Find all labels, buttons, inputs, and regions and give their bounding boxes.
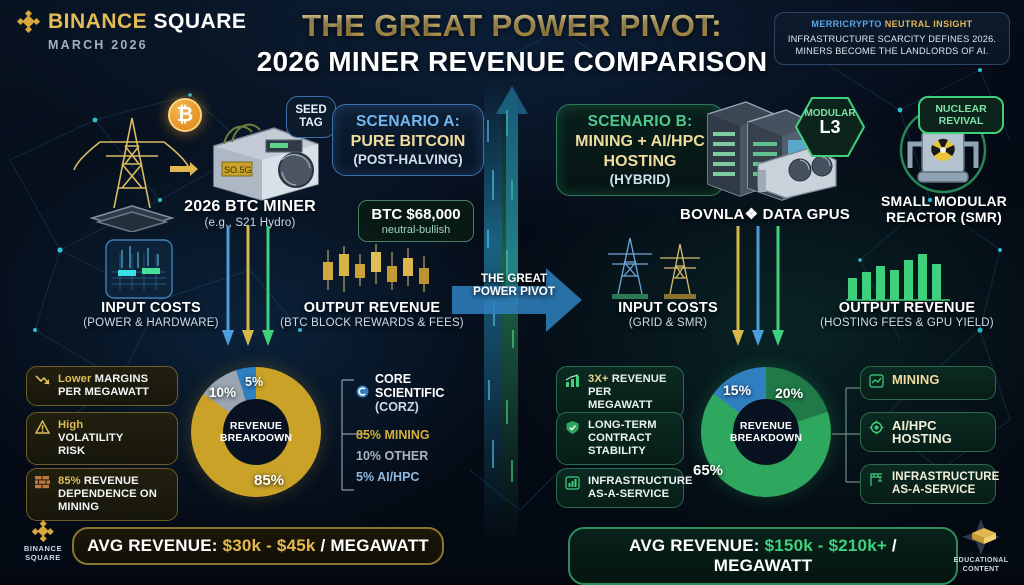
input-costs-grid-icon bbox=[104, 238, 174, 300]
left-chip-1-text: Lower MARGINS PER MEGAWATT bbox=[58, 373, 149, 399]
right-legend-chip-1-text: MINING bbox=[892, 373, 940, 386]
scenario-b-main-2: HOSTING bbox=[571, 153, 709, 171]
right-chip-2-line2: CONTRACT bbox=[588, 432, 652, 444]
right-legend-chip-2: AI/HPC HOSTING bbox=[860, 412, 996, 452]
right-chip-3-text: INFRASTRUCTURE AS-A-SERVICE bbox=[588, 475, 693, 501]
left-chip-2-line2: VOLATILITY bbox=[58, 432, 123, 444]
bar-chart-icon bbox=[565, 476, 581, 495]
left-legend-title-text: CORE SCIENTIFIC (CORZ) bbox=[375, 372, 476, 414]
left-legend-ticker: (CORZ) bbox=[375, 400, 419, 414]
left-legend-title-1: CORE bbox=[375, 372, 411, 386]
right-chip-2: LONG-TERM CONTRACT STABILITY bbox=[556, 412, 684, 465]
crane-icon bbox=[869, 472, 885, 492]
right-donut-center-text: REVENUE BREAKDOWN bbox=[730, 420, 802, 444]
right-donut-value-15: 15% bbox=[723, 382, 751, 398]
insight-source: MERRICRYPTO bbox=[811, 19, 881, 29]
right-legend-chip-3-text: INFRASTRUCTURE AS-A-SERVICE bbox=[892, 471, 999, 497]
left-avg-value: $30k - $45k bbox=[223, 536, 316, 555]
left-legend-row-3: 5% AI/HPC bbox=[356, 470, 476, 484]
insight-type: NEUTRAL INSIGHT bbox=[885, 19, 973, 29]
left-legend-row-1: 85% MINING bbox=[356, 428, 476, 442]
modular-hex-line2: L3 bbox=[794, 121, 866, 133]
educational-line2: CONTENT bbox=[946, 566, 1016, 575]
seed-tag-line2: TAG bbox=[291, 117, 331, 130]
right-chip-3-line2: AS-A-SERVICE bbox=[588, 488, 669, 500]
candlestick-chart-icon bbox=[318, 240, 446, 300]
right-chip-2-line3: STABILITY bbox=[588, 445, 646, 457]
chart-up-icon bbox=[565, 374, 581, 393]
left-legend-title-2: SCIENTIFIC bbox=[375, 386, 444, 400]
right-avg-prefix: AVG REVENUE: bbox=[629, 536, 764, 555]
left-legend: CORE SCIENTIFIC (CORZ) 85% MINING 10% OT… bbox=[356, 372, 476, 484]
right-legend-chip-2-text: AI/HPC HOSTING bbox=[892, 419, 952, 445]
warning-triangle-icon bbox=[35, 420, 51, 439]
left-avg-revenue-bar: AVG REVENUE: $30k - $45k / MEGAWATT bbox=[72, 527, 444, 565]
modular-hex-label: MODULAR L3 bbox=[794, 108, 866, 133]
btc-price-badge: BTC $68,000 neutral-bullish bbox=[358, 200, 474, 242]
insight-body-line1: INFRASTRUCTURE SCARCITY DEFINES 2026. bbox=[783, 33, 1001, 45]
left-chip-3-text: 85% REVENUE DEPENDENCE ON MINING bbox=[58, 475, 157, 514]
nuclear-revival-line2: REVIVAL bbox=[918, 115, 1004, 127]
right-legend-chip-3-line2: AS-A-SERVICE bbox=[892, 484, 975, 496]
nuclear-revival-label: NUCLEAR REVIVAL bbox=[918, 103, 1004, 127]
pivot-line2: POWER PIVOT bbox=[462, 285, 566, 298]
left-chip-1-rest: MARGINS bbox=[95, 373, 149, 385]
mining-chart-icon bbox=[869, 374, 885, 393]
right-chip-1-highlight: 3X+ bbox=[588, 373, 612, 385]
left-chip-3-line2: DEPENDENCE ON bbox=[58, 488, 157, 500]
scenario-a-sub: (POST-HALVING) bbox=[347, 152, 469, 167]
nuclear-revival-line1: NUCLEAR bbox=[918, 103, 1004, 115]
educational-line1: EDUCATIONAL bbox=[946, 557, 1016, 566]
right-legend-chip-3: INFRASTRUCTURE AS-A-SERVICE bbox=[860, 464, 996, 504]
right-chip-3: INFRASTRUCTURE AS-A-SERVICE bbox=[556, 468, 684, 508]
bitcoin-coin-icon: ₿ bbox=[168, 98, 202, 132]
svg-text:SO.5G: SO.5G bbox=[224, 165, 252, 175]
miner-label: 2026 BTC MINER (e.g., S21 Hydro) bbox=[150, 198, 350, 229]
graduation-cap-icon bbox=[960, 519, 1002, 555]
footer-binance-diamond-icon bbox=[33, 521, 53, 541]
right-legend-chip-2-line2: HOSTING bbox=[892, 431, 952, 446]
right-donut-value-20: 20% bbox=[775, 385, 803, 401]
educational-content-badge: EDUCATIONAL CONTENT bbox=[946, 519, 1016, 574]
seed-tag-badge: SEED TAG bbox=[286, 96, 336, 138]
scenario-b-heading: SCENARIO B: bbox=[571, 113, 709, 131]
right-legend-chip-3-line1: INFRASTRUCTURE bbox=[892, 471, 999, 483]
right-chip-1-line2: PER MEGAWATT bbox=[588, 386, 653, 411]
right-chip-3-rest: INFRASTRUCTURE bbox=[588, 475, 693, 487]
right-chip-1-text: 3X+ REVENUE PER MEGAWATT bbox=[588, 373, 675, 412]
scenario-a-panel: SCENARIO A: PURE BITCOIN (POST-HALVING) bbox=[332, 104, 484, 176]
miner-label-main: 2026 BTC MINER bbox=[150, 198, 350, 216]
btc-price-value: BTC $68,000 bbox=[368, 206, 464, 223]
right-chip-1-rest: REVENUE bbox=[612, 373, 667, 385]
right-legend-chip-1: MINING bbox=[860, 366, 996, 400]
left-chip-3-rest: REVENUE bbox=[84, 475, 139, 487]
left-donut-center-label: REVENUE BREAKDOWN bbox=[223, 399, 289, 465]
smr-label-line2: REACTOR (SMR) bbox=[856, 209, 1024, 225]
insight-card: MERRICRYPTO NEUTRAL INSIGHT INFRASTRUCTU… bbox=[774, 12, 1010, 65]
smr-label-line1: SMALL MODULAR bbox=[856, 193, 1024, 209]
right-avg-revenue-bar: AVG REVENUE: $150k - $210k+ / MEGAWATT bbox=[568, 527, 958, 585]
left-donut-value-85: 85% bbox=[254, 472, 284, 489]
right-chip-2-text: LONG-TERM CONTRACT STABILITY bbox=[588, 419, 657, 458]
left-chip-2: High VOLATILITY RISK bbox=[26, 412, 178, 465]
right-donut-center-label: REVENUE BREAKDOWN bbox=[733, 399, 799, 465]
gpu-label: BOVNLA❖ DATA GPUS bbox=[672, 205, 858, 223]
left-avg-prefix: AVG REVENUE: bbox=[87, 536, 222, 555]
smr-label: SMALL MODULAR REACTOR (SMR) bbox=[856, 193, 1024, 225]
core-scientific-logo-icon bbox=[356, 385, 369, 401]
left-chip-2-line3: RISK bbox=[58, 445, 85, 457]
pivot-label: THE GREAT POWER PIVOT bbox=[462, 272, 566, 298]
left-chip-1: Lower MARGINS PER MEGAWATT bbox=[26, 366, 178, 406]
btc-price-sentiment: neutral-bullish bbox=[368, 224, 464, 236]
left-chip-3: 85% REVENUE DEPENDENCE ON MINING bbox=[26, 468, 178, 521]
left-chip-2-highlight: High bbox=[58, 419, 83, 431]
seed-tag-line1: SEED bbox=[291, 104, 331, 117]
cpu-gear-icon bbox=[869, 420, 885, 440]
left-legend-title: CORE SCIENTIFIC (CORZ) bbox=[356, 372, 476, 414]
right-avg-value: $150k - $210k+ bbox=[765, 536, 887, 555]
left-flow-arrows bbox=[180, 226, 330, 356]
left-chip-1-line2: PER MEGAWATT bbox=[58, 386, 149, 398]
insight-body-line2: MINERS BECOME THE LANDLORDS OF AI. bbox=[783, 45, 1001, 57]
scenario-a-main: PURE BITCOIN bbox=[347, 133, 469, 151]
footer-brand-line1: BINANCE bbox=[12, 544, 74, 553]
scenario-b-panel: SCENARIO B: MINING + AI/HPC HOSTING (HYB… bbox=[556, 104, 724, 196]
left-donut-value-5: 5% bbox=[245, 375, 263, 389]
scenario-a-heading: SCENARIO A: bbox=[347, 113, 469, 131]
right-output-bar-chart-icon bbox=[844, 248, 954, 304]
left-donut-center-text: REVENUE BREAKDOWN bbox=[220, 420, 292, 444]
footer-brand: BINANCE SQUARE bbox=[12, 521, 74, 562]
left-chip-2-text: High VOLATILITY RISK bbox=[58, 419, 123, 458]
footer-brand-line2: SQUARE bbox=[12, 553, 74, 562]
right-flow-arrows bbox=[690, 226, 840, 356]
left-chip-3-line3: MINING bbox=[58, 501, 99, 513]
insight-tag: MERRICRYPTO NEUTRAL INSIGHT bbox=[783, 19, 1001, 29]
right-donut-value-65: 65% bbox=[693, 462, 723, 479]
left-chip-3-highlight: 85% bbox=[58, 475, 84, 487]
insight-body: INFRASTRUCTURE SCARCITY DEFINES 2026. MI… bbox=[783, 33, 1001, 57]
shield-check-icon bbox=[565, 420, 581, 440]
scenario-b-sub: (HYBRID) bbox=[571, 172, 709, 187]
left-chip-1-highlight: Lower bbox=[58, 373, 95, 385]
scenario-b-main-1: MINING + AI/HPC bbox=[571, 133, 709, 151]
brick-wall-icon bbox=[35, 476, 51, 494]
left-avg-suffix: / MEGAWATT bbox=[316, 536, 429, 555]
left-donut-value-10: 10% bbox=[209, 385, 236, 400]
right-chip-2-rest: LONG-TERM bbox=[588, 419, 657, 431]
left-legend-row-2: 10% OTHER bbox=[356, 449, 476, 463]
pivot-line1: THE GREAT bbox=[462, 272, 566, 285]
trend-down-icon bbox=[35, 374, 51, 392]
